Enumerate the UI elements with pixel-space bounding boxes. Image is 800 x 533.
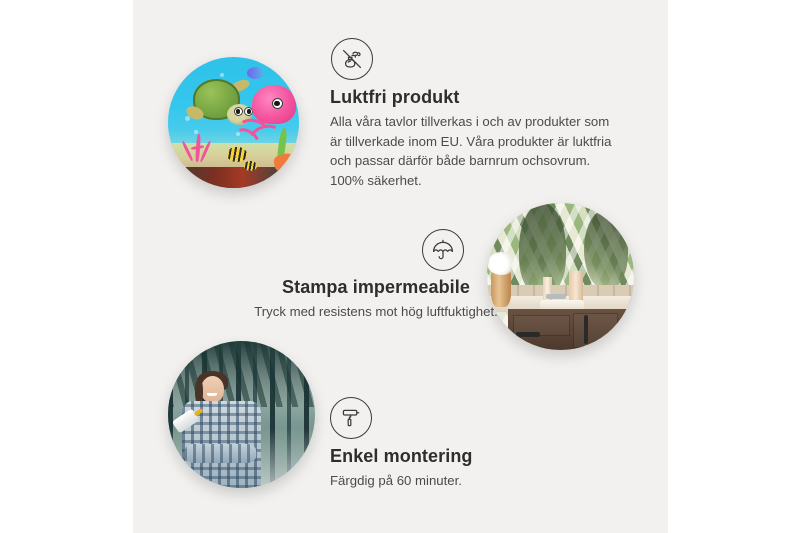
feature-description: Alla våra tavlor tillverkas i och av pro… (330, 112, 622, 190)
feature-title: Enkel montering (330, 446, 610, 467)
person-arms (184, 444, 257, 462)
person-hair (195, 380, 203, 403)
paint-roller-icon (330, 397, 372, 439)
feature-block-odorless: Luktfri produkt Alla våra tavlor tillver… (330, 38, 622, 190)
umbrella-icon (422, 229, 464, 271)
coral (180, 132, 219, 171)
turtle-eye (234, 107, 243, 116)
underwater-cartoon-circle-image (168, 57, 299, 188)
forest-scene (168, 341, 315, 488)
yellow-striped-fish (244, 161, 257, 171)
feature-block-waterproof: Stampa impermeabile Tryck med resistens … (226, 229, 526, 322)
decor-bottle (569, 271, 582, 303)
drawer-handle (516, 332, 540, 336)
feature-description: Tryck med resistens mot hög luftfuktighe… (226, 302, 526, 322)
page-root: Luktfri produkt Alla våra tavlor tillver… (0, 0, 800, 533)
yellow-striped-fish (227, 147, 247, 161)
blue-fish (247, 67, 264, 79)
bubble-icon (220, 73, 224, 77)
feature-title: Stampa impermeabile (226, 277, 526, 298)
door-handle (584, 315, 588, 344)
roller-handle (194, 408, 204, 416)
no-fragrance-icon (331, 38, 373, 80)
forest-painter-circle-image (168, 341, 315, 488)
underwater-scene (168, 57, 299, 188)
vanity-door (573, 313, 618, 348)
wooden-vanity (508, 309, 634, 350)
feature-block-easy-assembly: Enkel montering Färgdig på 60 minuter. (330, 397, 610, 491)
painter-person (177, 373, 268, 488)
feature-description: Färgdig på 60 minuter. (330, 471, 610, 491)
faucet (546, 294, 567, 298)
feature-title: Luktfri produkt (330, 87, 622, 108)
tropical-leaf (584, 209, 628, 290)
person-head (201, 376, 225, 404)
